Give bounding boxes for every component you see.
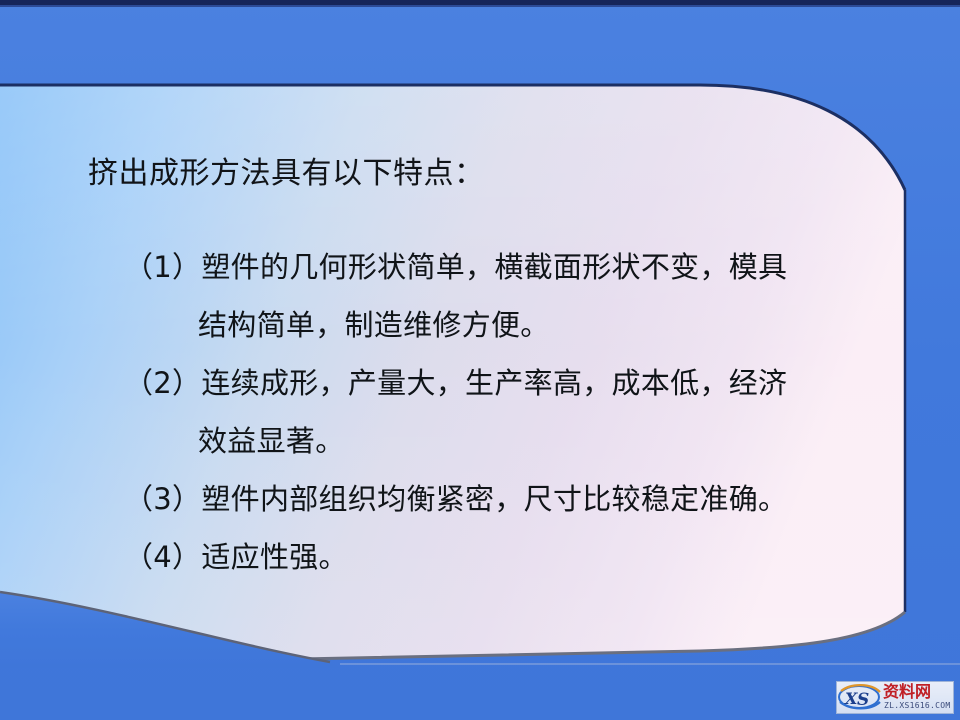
list-item-continuation: 效益显著。 [124,412,924,470]
watermark-text-group: 资料网 ZL.XS1616.COM [883,682,953,713]
watermark-url: ZL.XS1616.COM [884,701,951,711]
bullet-list: （1）塑件的几何形状简单，横截面形状不变，模具 结构简单，制造维修方便。 （2）… [124,238,924,586]
list-item: （2）连续成形，产量大，生产率高，成本低，经济 [124,354,924,412]
xs-logo-icon: X S [837,682,883,713]
list-item-continuation: 结构简单，制造维修方便。 [124,296,924,354]
list-item: （4）适应性强。 [124,528,924,586]
watermark-badge: X S 资料网 ZL.XS1616.COM [836,681,954,714]
presentation-slide: 挤出成形方法具有以下特点： （1）塑件的几何形状简单，横截面形状不变，模具 结构… [0,0,960,720]
list-item: （3）塑件内部组织均衡紧密，尺寸比较稳定准确。 [124,470,924,528]
svg-text:X: X [844,689,858,708]
list-item: （1）塑件的几何形状简单，横截面形状不变，模具 [124,238,924,296]
watermark-brand: 资料网 [883,683,931,701]
svg-text:S: S [857,690,869,710]
page-title: 挤出成形方法具有以下特点： [88,155,485,193]
slide-content: 挤出成形方法具有以下特点： （1）塑件的几何形状简单，横截面形状不变，模具 结构… [0,0,960,720]
